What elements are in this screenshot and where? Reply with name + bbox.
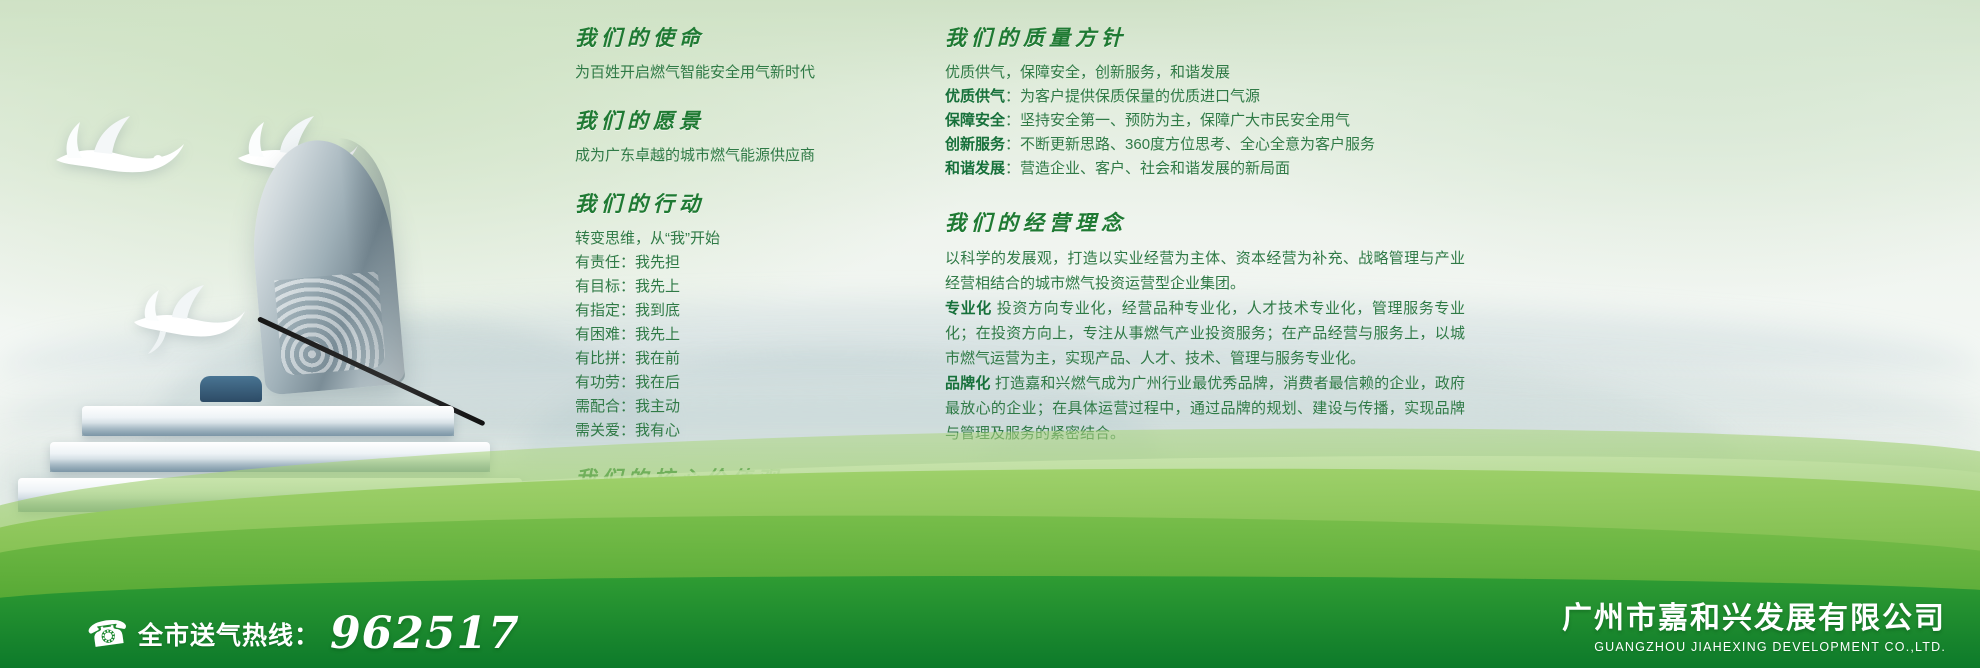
action-line-4-text: 有指定：我到底 — [575, 302, 680, 319]
action-line-8: 需配合：我主动 — [575, 395, 915, 419]
action-line-8-text: 需配合：我主动 — [575, 398, 680, 415]
action-line-5: 有困难：我先上 — [575, 323, 915, 347]
action-line-7: 有功劳：我在后 — [575, 371, 915, 395]
heading-mission: 我们的使命 — [575, 22, 915, 52]
action-line-3: 有目标：我先上 — [575, 275, 915, 299]
core-values-label-2: 和谐 — [575, 529, 605, 546]
quality-text-5: ：营造企业、客户、社会和谐发展的新局面 — [1005, 160, 1290, 177]
action-line-7-text: 有功劳：我在后 — [575, 374, 680, 391]
philosophy-paragraph-3: 品牌化 打造嘉和兴燃气成为广州行业最优秀品牌，消费者最信赖的企业，政府最放心的企… — [945, 371, 1465, 446]
action-line-9: 需关爱：我有心 — [575, 419, 915, 443]
core-values-line-1: 创新：永恒创新，精细不止 — [575, 502, 915, 526]
philosophy-label-2: 专业化 — [945, 300, 992, 317]
mission-line-1-text: 为百姓开启燃气智能安全用气新时代 — [575, 64, 815, 81]
quality-line-4: 创新服务：不断更新思路、360度方位思考、全心全意为客户服务 — [945, 133, 1465, 157]
block-quality-policy: 我们的质量方针 优质供气，保障安全，创新服务，和谐发展 优质供气：为客户提供保质… — [945, 22, 1465, 181]
company-name-cn: 广州市嘉和兴发展有限公司 — [1562, 602, 1946, 637]
quality-text-2: ：为客户提供保质保量的优质进口气源 — [1005, 88, 1260, 105]
block-action: 我们的行动 转变思维，从“我”开始 有责任：我先担 有目标：我先上 有指定：我到… — [575, 188, 915, 443]
footer-company: 广州市嘉和兴发展有限公司 GUANGZHOU JIAHEXING DEVELOP… — [1562, 602, 1946, 655]
base-slab-middle — [50, 442, 490, 472]
heading-core-values: 我们的核心价值观 — [575, 463, 915, 493]
action-line-3-text: 有目标：我先上 — [575, 278, 680, 295]
action-line-4: 有指定：我到底 — [575, 299, 915, 323]
hotline-label: 全市送气热线： — [138, 616, 320, 652]
philosophy-paragraph-1: 以科学的发展观，打造以实业经营为主体、资本经营为补充、战略管理与产业经营相结合的… — [945, 246, 1465, 296]
core-values-line-3: 坚持：严谨负责，坚持前行 — [575, 550, 915, 574]
philosophy-text-3: 打造嘉和兴燃气成为广州行业最优秀品牌，消费者最信赖的企业，政府最放心的企业；在具… — [945, 375, 1465, 442]
block-core-values: 我们的核心价值观 创新：永恒创新，精细不止 和谐：和谐共赢 坚持：严谨负责，坚持… — [575, 463, 915, 574]
action-line-9-text: 需关爱：我有心 — [575, 422, 680, 439]
heading-quality-policy: 我们的质量方针 — [945, 22, 1465, 52]
core-values-line-2: 和谐：和谐共赢 — [575, 526, 915, 550]
sundial-monument — [0, 120, 560, 520]
company-name-en: GUANGZHOU JIAHEXING DEVELOPMENT CO.,LTD. — [1562, 640, 1946, 654]
action-line-5-text: 有困难：我先上 — [575, 326, 680, 343]
culture-core-line-1: 安全供气 追求卓越 创新发展 和谐共进 — [945, 511, 1465, 535]
poster-canvas: 我们的使命 为百姓开启燃气智能安全用气新时代 我们的愿景 成为广东卓越的城市燃气… — [0, 0, 1980, 668]
action-line-1-text: 转变思维，从“我”开始 — [575, 230, 720, 247]
quality-line-3: 保障安全：坚持安全第一、预防为主，保障广大市民安全用气 — [945, 109, 1465, 133]
vision-line-1: 成为广东卓越的城市燃气能源供应商 — [575, 144, 915, 168]
action-line-6-text: 有比拼：我在前 — [575, 350, 680, 367]
mission-line-1: 为百姓开启燃气智能安全用气新时代 — [575, 61, 915, 85]
heading-culture-core: 企业文化核心理念 — [945, 472, 1465, 502]
block-business-philosophy: 我们的经营理念 以科学的发展观，打造以实业经营为主体、资本经营为补充、战略管理与… — [945, 207, 1465, 446]
quality-line-2: 优质供气：为客户提供保质保量的优质进口气源 — [945, 85, 1465, 109]
core-values-text-2: ：和谐共赢 — [605, 529, 680, 546]
block-culture-core: 企业文化核心理念 安全供气 追求卓越 创新发展 和谐共进 — [945, 472, 1465, 535]
heading-vision: 我们的愿景 — [575, 105, 915, 135]
monument-base — [10, 398, 530, 530]
action-line-2: 有责任：我先担 — [575, 251, 915, 275]
quality-label-2: 优质供气 — [945, 88, 1005, 105]
vision-line-1-text: 成为广东卓越的城市燃气能源供应商 — [575, 147, 815, 164]
base-slab-top — [82, 406, 454, 436]
core-values-text-1: ：永恒创新，精细不止 — [605, 505, 755, 522]
philosophy-label-3: 品牌化 — [945, 375, 991, 392]
hotline-number: 962517 — [330, 612, 520, 656]
heading-business-philosophy: 我们的经营理念 — [945, 207, 1465, 237]
quality-line-5: 和谐发展：营造企业、客户、社会和谐发展的新局面 — [945, 157, 1465, 181]
quality-line-1: 优质供气，保障安全，创新服务，和谐发展 — [945, 61, 1465, 85]
core-values-label-1: 创新 — [575, 505, 605, 522]
quality-label-5: 和谐发展 — [945, 160, 1005, 177]
middle-text-column: 我们的使命 为百姓开启燃气智能安全用气新时代 我们的愿景 成为广东卓越的城市燃气… — [575, 22, 915, 594]
action-line-6: 有比拼：我在前 — [575, 347, 915, 371]
action-line-1: 转变思维，从“我”开始 — [575, 227, 915, 251]
quality-label-4: 创新服务 — [945, 136, 1005, 153]
philosophy-paragraph-2: 专业化 投资方向专业化，经营品种专业化，人才技术专业化，管理服务专业化；在投资方… — [945, 296, 1465, 371]
culture-core-text-1: 安全供气 追求卓越 创新发展 和谐共进 — [945, 514, 1245, 531]
footer-hotline: ☎ 全市送气热线： 962517 — [88, 612, 520, 656]
philosophy-text-2: 投资方向专业化，经营品种专业化，人才技术专业化，管理服务专业化；在投资方向上，专… — [945, 300, 1465, 367]
right-text-column: 我们的质量方针 优质供气，保障安全，创新服务，和谐发展 优质供气：为客户提供保质… — [945, 22, 1465, 555]
stone-blade — [244, 134, 405, 395]
block-mission: 我们的使命 为百姓开启燃气智能安全用气新时代 — [575, 22, 915, 85]
action-line-2-text: 有责任：我先担 — [575, 254, 680, 271]
heading-action: 我们的行动 — [575, 188, 915, 218]
quality-text-1: 优质供气，保障安全，创新服务，和谐发展 — [945, 64, 1230, 81]
block-vision: 我们的愿景 成为广东卓越的城市燃气能源供应商 — [575, 105, 915, 168]
core-values-label-3: 坚持 — [575, 553, 605, 570]
base-slab-bottom — [18, 478, 522, 512]
quality-text-4: ：不断更新思路、360度方位思考、全心全意为客户服务 — [1005, 136, 1375, 153]
quality-label-3: 保障安全 — [945, 112, 1005, 129]
phone-icon: ☎ — [85, 611, 130, 656]
philosophy-text-1: 以科学的发展观，打造以实业经营为主体、资本经营为补充、战略管理与产业经营相结合的… — [945, 250, 1465, 292]
quality-text-3: ：坚持安全第一、预防为主，保障广大市民安全用气 — [1005, 112, 1350, 129]
core-values-text-3: ：严谨负责，坚持前行 — [605, 553, 755, 570]
